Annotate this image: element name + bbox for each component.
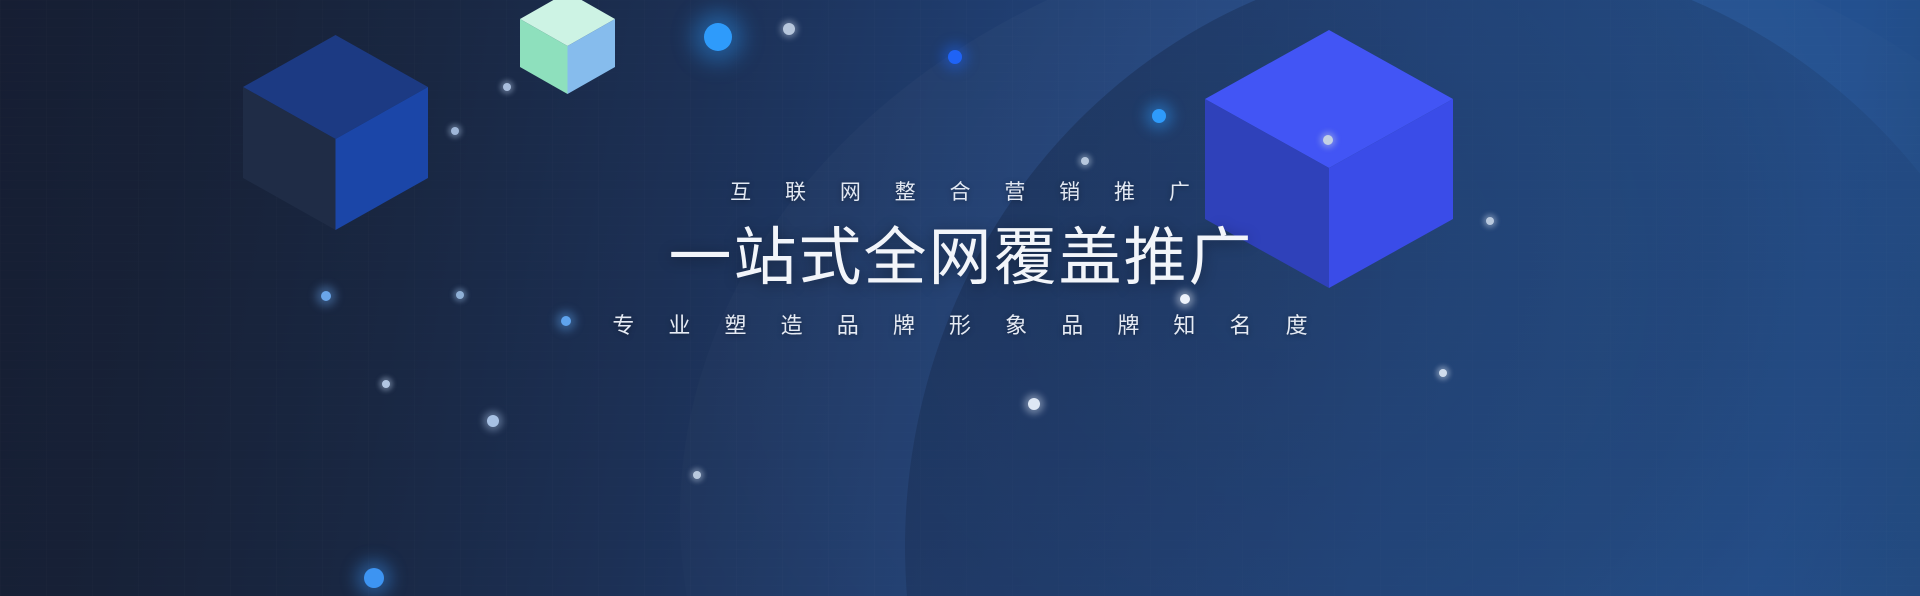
particle-dot: [503, 83, 511, 91]
particle-dot: [382, 380, 390, 388]
particle-dot: [704, 23, 732, 51]
particle-dot: [1152, 109, 1166, 123]
particle-dot: [1439, 369, 1447, 377]
particle-dot: [451, 127, 459, 135]
particle-dot: [487, 415, 499, 427]
particle-dot: [1081, 157, 1089, 165]
hero-banner: 互 联 网 整 合 营 销 推 广 一站式全网覆盖推广 专 业 塑 造 品 牌 …: [0, 0, 1920, 596]
particle-dot: [948, 50, 962, 64]
hero-headline: 一站式全网覆盖推广: [0, 227, 1920, 290]
particle-dot: [693, 471, 701, 479]
hero-tagline: 专 业 塑 造 品 牌 形 象 品 牌 知 名 度: [0, 315, 1920, 337]
particle-dot: [1028, 398, 1040, 410]
particle-dot: [364, 568, 384, 588]
mint-cube-icon: [520, 0, 615, 94]
particle-dot: [783, 23, 795, 35]
hero-eyebrow: 互 联 网 整 合 营 销 推 广: [0, 182, 1920, 203]
hero-text-block: 互 联 网 整 合 营 销 推 广 一站式全网覆盖推广 专 业 塑 造 品 牌 …: [0, 182, 1920, 337]
